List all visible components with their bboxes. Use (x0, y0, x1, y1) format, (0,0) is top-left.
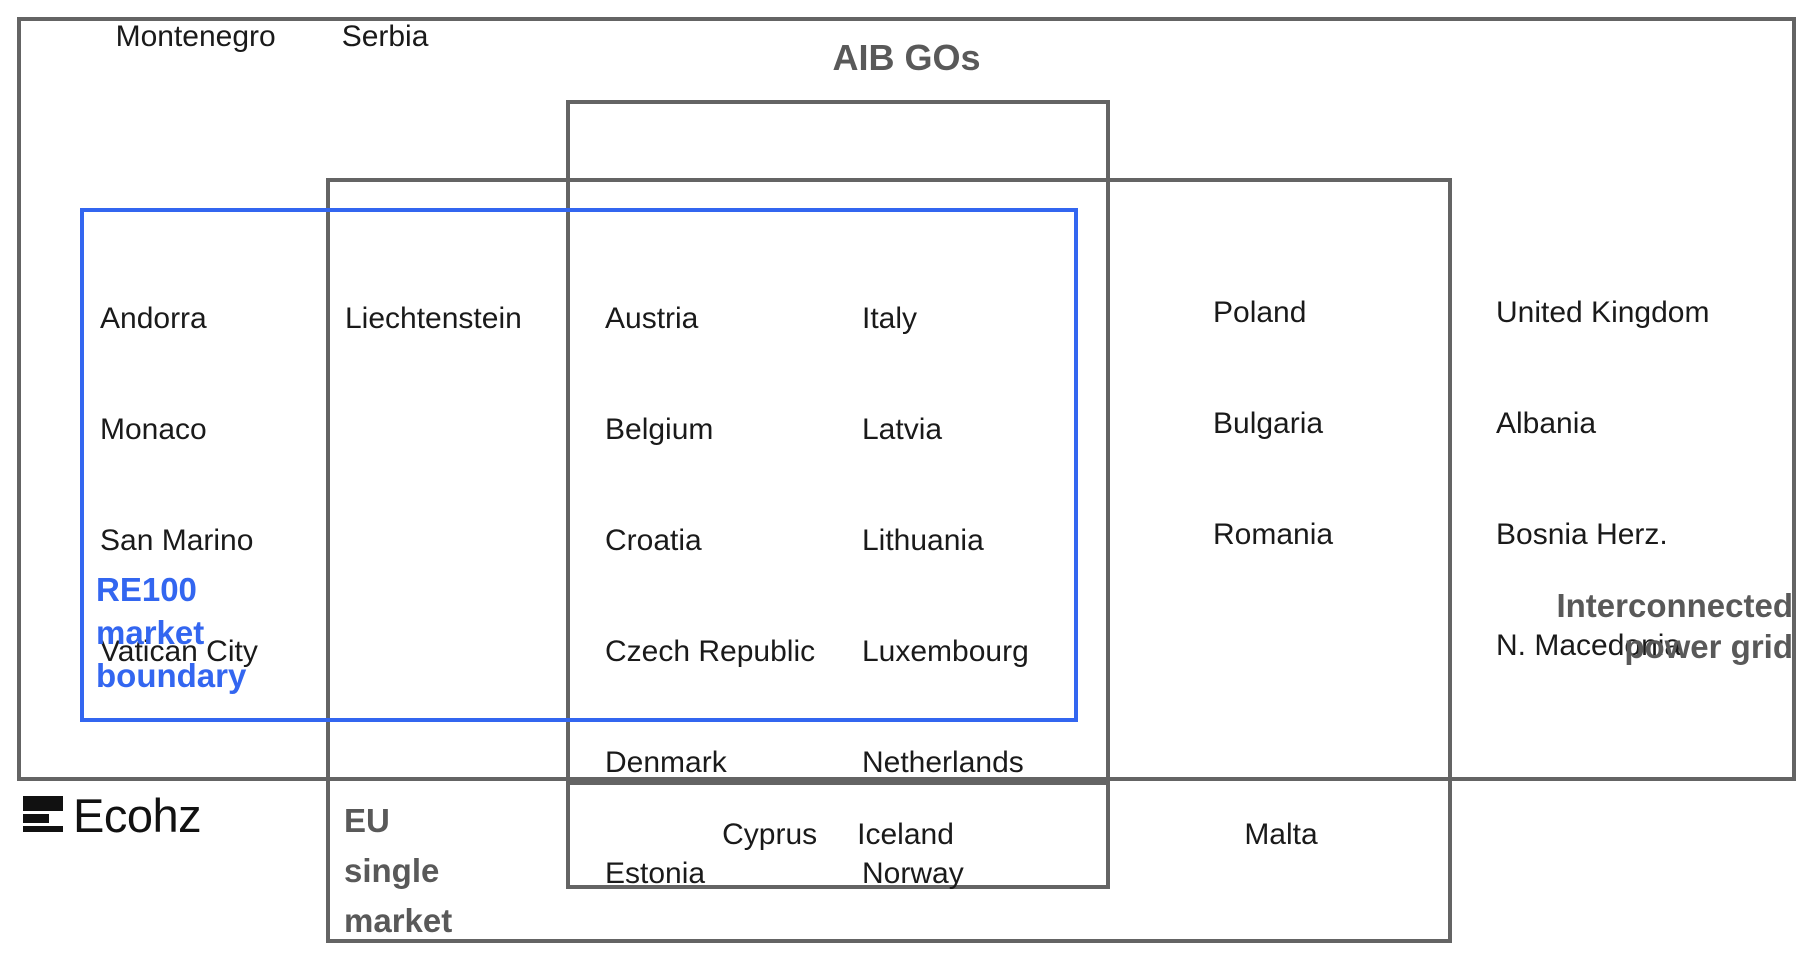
country-malta: Malta (1244, 818, 1317, 852)
country-bosnia-herz: Bosnia Herz. (1496, 516, 1709, 553)
ecohz-bars-icon (22, 792, 64, 839)
interconnected-power-grid-label: Interconnected power grid (1333, 585, 1793, 667)
country-cyprus: Cyprus (722, 818, 817, 852)
ecohz-logo: Ecohz (22, 792, 201, 839)
eu-single-market-only-country-list: Poland Bulgaria Romania (1213, 220, 1333, 627)
country-netherlands: Netherlands (862, 744, 1029, 781)
re100-market-boundary-label: RE100 market boundary (96, 568, 246, 697)
country-poland: Poland (1213, 294, 1333, 331)
country-bulgaria: Bulgaria (1213, 405, 1333, 442)
eu-single-market-islands-row: Malta (1110, 781, 1452, 889)
country-albania: Albania (1496, 405, 1709, 442)
country-iceland: Iceland (857, 818, 954, 852)
eu-single-market-label: EU single market (344, 796, 452, 946)
ecohz-wordmark: Ecohz (73, 792, 201, 839)
country-romania: Romania (1213, 516, 1333, 553)
country-denmark: Denmark (605, 744, 815, 781)
page-title: AIB GOs (0, 36, 1813, 80)
country-united-kingdom: United Kingdom (1496, 294, 1709, 331)
aib-gos-islands-row: Cyprus Iceland (566, 781, 1110, 889)
diagram-canvas: AIB GOs Montenegro Serbia Andorra Monaco… (0, 0, 1813, 964)
